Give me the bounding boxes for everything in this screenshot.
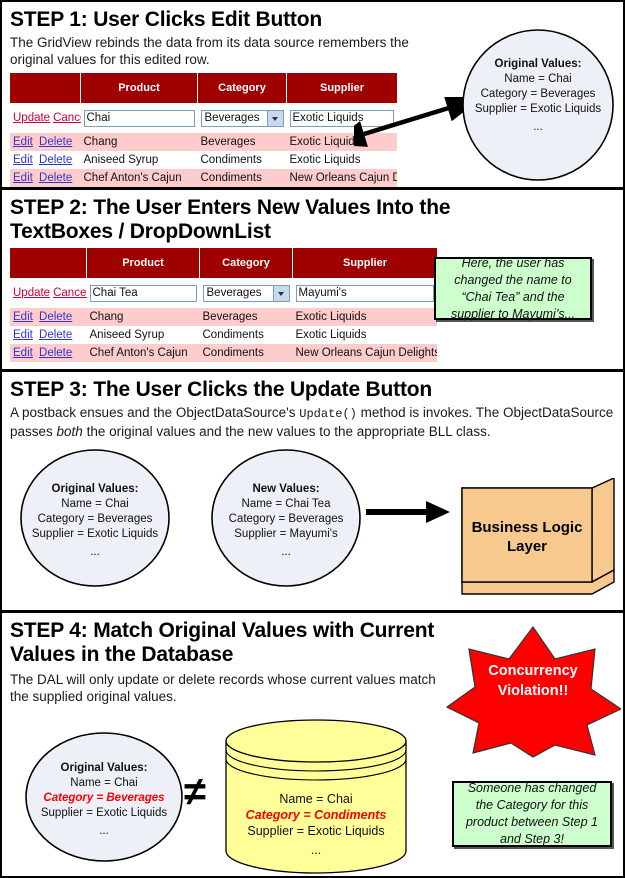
edit-supplier-cell: Mayumi's xyxy=(293,278,438,308)
chevron-down-icon[interactable] xyxy=(267,111,283,126)
column-header-category: Category xyxy=(200,248,293,278)
column-header-command xyxy=(10,73,81,103)
gridview-step-1: Product Category Supplier UpdateCancel C… xyxy=(10,73,397,187)
edit-link[interactable]: Edit xyxy=(13,154,33,166)
edit-category-cell: Beverages xyxy=(200,278,293,308)
edit-link[interactable]: Edit xyxy=(13,136,33,148)
row-commands: Edit Delete xyxy=(10,169,81,187)
edit-row-commands: UpdateCancel xyxy=(10,278,87,308)
column-header-product: Product xyxy=(87,248,200,278)
original-values-oval-step3 xyxy=(19,448,171,588)
cell-category: Condiments xyxy=(200,344,293,362)
step-4-description: The DAL will only update or delete recor… xyxy=(10,671,442,705)
step-3-desc-emphasis: both xyxy=(57,424,83,439)
step-2-callout: Here, the user has changed the name to “… xyxy=(434,257,592,320)
cancel-link[interactable]: Cancel xyxy=(53,112,80,124)
edit-link[interactable]: Edit xyxy=(13,329,33,341)
chevron-down-icon[interactable] xyxy=(273,286,289,301)
edit-category-cell: Beverages xyxy=(198,103,287,133)
diagram-page: STEP 1: User Clicks Edit Button The Grid… xyxy=(0,0,625,878)
new-values-oval-step3 xyxy=(210,448,362,588)
step-3-desc-code: Update() xyxy=(299,407,357,421)
product-textbox[interactable]: Chai Tea xyxy=(90,285,197,302)
table-row: Edit Delete Chef Anton's Cajun Condiment… xyxy=(10,344,437,362)
cell-product: Chef Anton's Cajun xyxy=(81,169,198,187)
row-commands: Edit Delete xyxy=(10,326,87,344)
row-commands: Edit Delete xyxy=(10,133,81,151)
column-header-command xyxy=(10,248,87,278)
step-3-title: STEP 3: The User Clicks the Update Butto… xyxy=(10,378,615,402)
delete-link[interactable]: Delete xyxy=(39,136,72,148)
step-4-title: STEP 4: Match Original Values with Curre… xyxy=(10,619,450,667)
edit-link[interactable]: Edit xyxy=(13,311,33,323)
table-row: Edit Delete Aniseed Syrup Condiments Exo… xyxy=(10,326,437,344)
step-3-desc-part1: A postback ensues and the ObjectDataSour… xyxy=(10,405,299,420)
cell-product: Chang xyxy=(81,133,198,151)
step-3-description: A postback ensues and the ObjectDataSour… xyxy=(10,404,615,440)
update-link[interactable]: Update xyxy=(13,287,50,299)
gridview-header-row-2: Product Category Supplier xyxy=(10,248,437,278)
gridview-header-row-1: Product Category Supplier xyxy=(10,73,397,103)
bll-label: Business Logic Layer xyxy=(457,518,597,556)
edit-product-cell: Chai xyxy=(81,103,198,133)
column-header-product: Product xyxy=(81,73,198,103)
row-commands: Edit Delete xyxy=(10,308,87,326)
edit-row-commands: UpdateCancel xyxy=(10,103,81,133)
step-2-section: STEP 2: The User Enters New Values Into … xyxy=(2,190,623,372)
database-line-2-highlight: Category = Condiments xyxy=(220,807,412,823)
step-4-section: STEP 4: Match Original Values with Curre… xyxy=(2,613,623,876)
table-row: Edit Delete Chang Beverages Exotic Liqui… xyxy=(10,133,397,151)
original-values-circle-step1 xyxy=(460,27,616,183)
delete-link[interactable]: Delete xyxy=(39,329,72,341)
database-line-3: Supplier = Exotic Liquids xyxy=(220,823,412,839)
cell-product: Aniseed Syrup xyxy=(87,326,200,344)
cell-category: Condiments xyxy=(198,151,287,169)
delete-link[interactable]: Delete xyxy=(39,311,72,323)
category-dropdown-value: Beverages xyxy=(207,287,262,299)
step-3-section: STEP 3: The User Clicks the Update Butto… xyxy=(2,372,623,613)
cell-supplier: New Orleans Cajun Delights xyxy=(287,169,398,187)
edit-link[interactable]: Edit xyxy=(13,347,33,359)
cell-category: Beverages xyxy=(198,133,287,151)
cell-supplier: Exotic Liquids xyxy=(293,326,438,344)
category-dropdown-value: Beverages xyxy=(205,112,260,124)
cancel-link[interactable]: Cancel xyxy=(53,287,86,299)
cell-supplier: New Orleans Cajun Delights xyxy=(293,344,438,362)
step-4-callout: Someone has changed the Category for thi… xyxy=(452,781,612,847)
bll-label-line-2: Layer xyxy=(457,537,597,556)
edit-link[interactable]: Edit xyxy=(13,172,33,184)
cell-category: Condiments xyxy=(200,326,293,344)
product-textbox[interactable]: Chai xyxy=(84,110,195,127)
double-arrow-step1 xyxy=(354,97,464,147)
table-row: Edit Delete Chef Anton's Cajun Condiment… xyxy=(10,169,397,187)
category-dropdownlist[interactable]: Beverages xyxy=(203,285,290,302)
cell-supplier: Exotic Liquids xyxy=(287,151,398,169)
step-3-desc-part3: the original values and the new values t… xyxy=(83,424,491,439)
not-equal-sign: ≠ xyxy=(184,772,206,812)
table-row: Edit Delete Aniseed Syrup Condiments Exo… xyxy=(10,151,397,169)
cell-category: Condiments xyxy=(198,169,287,187)
update-link[interactable]: Update xyxy=(13,112,50,124)
category-dropdownlist[interactable]: Beverages xyxy=(201,110,284,127)
cell-category: Beverages xyxy=(200,308,293,326)
gridview-edit-row-1: UpdateCancel Chai Beverages Exotic Liqui… xyxy=(10,103,397,133)
original-values-oval-step4 xyxy=(24,731,184,863)
supplier-textbox[interactable]: Mayumi's xyxy=(296,285,435,302)
arrow-to-bll xyxy=(362,497,452,527)
database-values-text: Name = Chai Category = Condiments Suppli… xyxy=(220,791,412,858)
concurrency-violation-star xyxy=(445,623,621,759)
column-header-category: Category xyxy=(198,73,287,103)
cell-product: Chef Anton's Cajun xyxy=(87,344,200,362)
column-header-supplier: Supplier xyxy=(293,248,438,278)
table-row: Edit Delete Chang Beverages Exotic Liqui… xyxy=(10,308,437,326)
cell-supplier: Exotic Liquids xyxy=(293,308,438,326)
step-1-description: The GridView rebinds the data from its d… xyxy=(10,34,440,68)
row-commands: Edit Delete xyxy=(10,151,81,169)
edit-product-cell: Chai Tea xyxy=(87,278,200,308)
gridview-step-2: Product Category Supplier UpdateCancel C… xyxy=(10,248,437,362)
database-ellipsis: ... xyxy=(220,842,412,858)
delete-link[interactable]: Delete xyxy=(39,154,72,166)
cell-product: Chang xyxy=(87,308,200,326)
gridview-edit-row-2: UpdateCancel Chai Tea Beverages Mayumi's xyxy=(10,278,437,308)
delete-link[interactable]: Delete xyxy=(39,347,72,359)
step-1-section: STEP 1: User Clicks Edit Button The Grid… xyxy=(2,2,623,190)
step-2-title: STEP 2: The User Enters New Values Into … xyxy=(10,196,490,244)
bll-label-line-1: Business Logic xyxy=(457,518,597,537)
row-commands: Edit Delete xyxy=(10,344,87,362)
delete-link[interactable]: Delete xyxy=(39,172,72,184)
database-line-1: Name = Chai xyxy=(220,791,412,807)
cell-product: Aniseed Syrup xyxy=(81,151,198,169)
